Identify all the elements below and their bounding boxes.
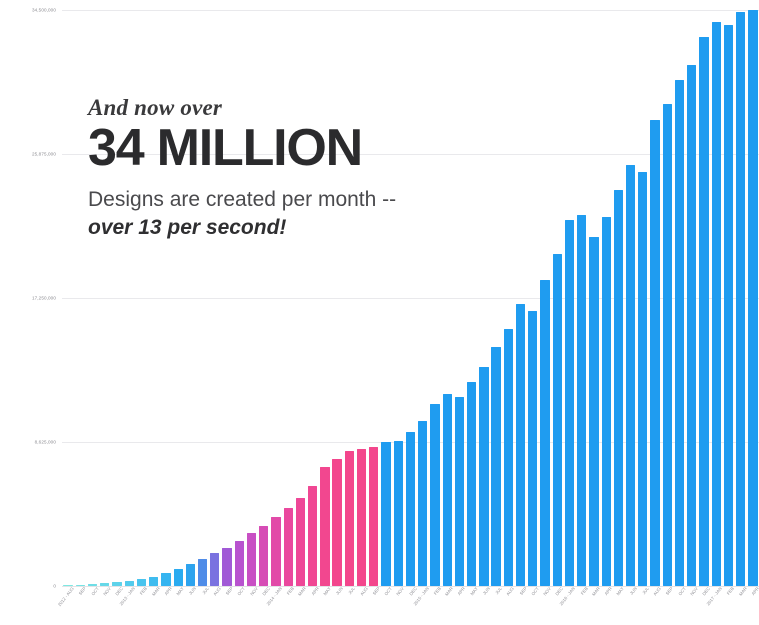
bar [284, 508, 293, 586]
x-axis-tick-label: DEC [261, 586, 271, 596]
y-axis-tick-label: 25,875,000 [0, 152, 56, 157]
x-axis-tick-label: NOV [249, 586, 259, 597]
x-axis-tick-label: FEB [726, 586, 735, 596]
bar [210, 553, 219, 586]
x-axis-tick-label: APR [163, 586, 172, 596]
x-axis-tick-label: SEP [78, 586, 87, 596]
x-axis-tick-label: SEP [518, 586, 527, 596]
x-axis-tick-label: DEC [701, 586, 711, 596]
x-axis-tick-label: FEB [286, 586, 295, 596]
bar [418, 421, 427, 586]
x-axis-tick-label: MAY [616, 586, 626, 596]
bar [491, 347, 500, 586]
bar [699, 37, 708, 586]
x-axis-tick-label: AUG [505, 586, 515, 597]
bar [369, 447, 378, 586]
x-axis-tick-label: MAR [591, 586, 601, 597]
callout-subline-2: over 13 per second! [88, 215, 508, 241]
x-axis-tick-label: MAR [738, 586, 748, 597]
bar [235, 541, 244, 586]
y-axis-tick-label: 34,500,000 [0, 8, 56, 13]
x-axis-tick-label: SEP [665, 586, 674, 596]
x-axis-tick-label: FEB [433, 586, 442, 596]
bar [394, 441, 403, 586]
x-axis-tick-label: NOV [689, 586, 699, 597]
bar [638, 172, 647, 586]
x-axis-tick-label: FEB [579, 586, 588, 596]
x-axis-tick-label: MAR [444, 586, 454, 597]
bar [736, 12, 745, 586]
x-axis-tick-label: MAY [469, 586, 479, 596]
bar [381, 442, 390, 586]
bar [161, 573, 170, 586]
x-axis-tick-label: DEC [408, 586, 418, 596]
x-axis-tick-label: SEP [225, 586, 234, 596]
x-axis-tick-label: DEC [114, 586, 124, 596]
callout-headline: 34 MILLION [88, 122, 508, 175]
bar [565, 220, 574, 586]
bar [247, 533, 256, 586]
bar [149, 577, 158, 586]
bar [443, 394, 452, 586]
x-axis-tick-label: JUL [641, 586, 650, 595]
x-axis-tick-label: APR [604, 586, 613, 596]
bar [174, 569, 183, 586]
bar [479, 367, 488, 586]
bar [455, 397, 464, 586]
x-axis-tick-label: AUG [652, 586, 662, 597]
x-axis-tick-label: APR [310, 586, 319, 596]
bar [467, 382, 476, 586]
bar [296, 498, 305, 586]
x-axis-tick-label: MAY [176, 586, 186, 596]
x-axis-tick-label: OCT [530, 586, 540, 596]
x-axis-tick-label: AUG [212, 586, 222, 597]
x-axis-tick-label: NOV [542, 586, 552, 597]
x-axis-tick-label: OCT [383, 586, 393, 596]
bar [504, 329, 513, 586]
x-axis-tick-label: APR [750, 586, 759, 596]
x-axis-tick-label: AUG [359, 586, 369, 597]
bar [259, 526, 268, 586]
bar [540, 280, 549, 586]
bar [663, 104, 672, 587]
callout-text-block: And now over 34 MILLION Designs are crea… [88, 96, 508, 242]
bar [724, 25, 733, 586]
x-axis-tick-label: NOV [102, 586, 112, 597]
x-axis-tick-label: NOV [395, 586, 405, 597]
bar [650, 120, 659, 586]
x-axis-tick-label: JUL [494, 586, 503, 595]
bar [222, 548, 231, 586]
x-axis-tick-label: MAR [297, 586, 307, 597]
bar [320, 467, 329, 586]
chart-page: 34,500,00025,875,00017,250,0008,625,0000… [0, 0, 759, 625]
x-axis-tick-labels: 2012 - AUGSEPOCTNOVDEC2013 - JANFEBMARAP… [62, 586, 759, 625]
bar [748, 10, 757, 586]
bar [430, 404, 439, 586]
y-axis-tick-label: 17,250,000 [0, 296, 56, 301]
x-axis-tick-label: FEB [139, 586, 148, 596]
bar [589, 237, 598, 586]
x-axis-tick-label: APR [457, 586, 466, 596]
x-axis-tick-label: OCT [90, 586, 100, 596]
bar [528, 311, 537, 586]
x-axis-tick-label: JUL [201, 586, 210, 595]
x-axis-tick-label: JUL [348, 586, 357, 595]
bar [198, 559, 207, 586]
bar [577, 215, 586, 586]
bar [602, 217, 611, 586]
bar [614, 190, 623, 586]
x-axis-tick-label: JUN [482, 586, 491, 596]
y-axis-tick-label: 0 [0, 584, 56, 589]
x-axis-tick-label: MAY [322, 586, 332, 596]
bar [332, 459, 341, 586]
x-axis-tick-label: SEP [371, 586, 380, 596]
callout-kicker: And now over [88, 96, 508, 120]
bar [271, 517, 280, 586]
bar [675, 80, 684, 586]
x-axis-tick-label: JUN [628, 586, 637, 596]
x-axis-tick-label: OCT [677, 586, 687, 596]
bar [553, 254, 562, 586]
bar [712, 22, 721, 586]
bar [406, 432, 415, 586]
x-axis-tick-label: MAR [151, 586, 161, 597]
y-axis-tick-label: 8,625,000 [0, 440, 56, 445]
bar [357, 449, 366, 586]
bar [186, 564, 195, 586]
x-axis-tick-label: DEC [555, 586, 565, 596]
callout-subline-1: Designs are created per month -- [88, 187, 508, 213]
bar [345, 451, 354, 586]
bar [626, 165, 635, 586]
bar [687, 65, 696, 586]
x-axis-tick-label: JUN [335, 586, 344, 596]
bar [516, 304, 525, 586]
x-axis-tick-label: JUN [188, 586, 197, 596]
bar [308, 486, 317, 586]
x-axis-tick-label: 2012 - AUG [57, 586, 75, 607]
x-axis-tick-label: OCT [237, 586, 247, 596]
